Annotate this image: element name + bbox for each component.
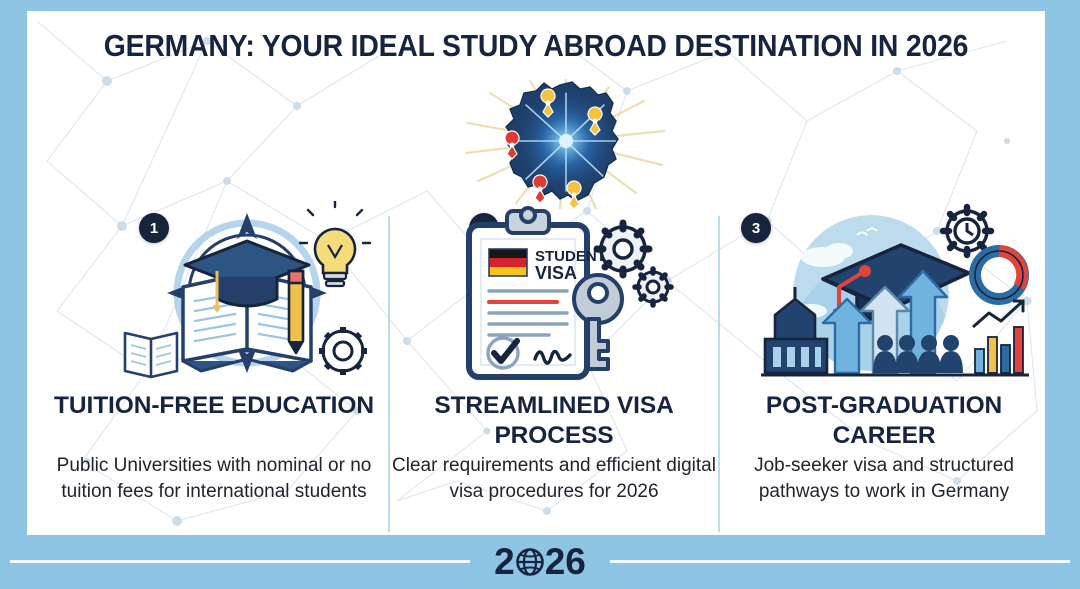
feature-body: Clear requirements and efficient digital… <box>389 453 719 505</box>
globe-icon <box>515 543 545 587</box>
feature-body: Job-seeker visa and structured pathways … <box>719 453 1045 505</box>
feature-heading: POST-GRADUATION CAREER <box>719 391 1045 450</box>
pencil <box>289 271 303 353</box>
year-prefix: 2 <box>494 541 515 582</box>
donut-chart-icon <box>975 251 1023 299</box>
poster-canvas: GERMANY: YOUR IDEAL STUDY ABROAD DESTINA… <box>27 11 1045 535</box>
book-graduation-compass-icon <box>121 201 373 386</box>
small-book-icon <box>125 333 177 377</box>
german-flag-icon <box>489 249 527 276</box>
clock-gear-icon <box>943 207 991 255</box>
page-title: GERMANY: YOUR IDEAL STUDY ABROAD DESTINA… <box>63 29 1010 64</box>
gear-icon <box>319 327 367 375</box>
gear-icon <box>597 223 649 275</box>
footer-year: 226 <box>0 540 1080 587</box>
student-visa-clipboard-icon: STUDENT VISA <box>431 201 676 386</box>
germany-map-illustration <box>464 79 669 209</box>
feature-body: Public Universities with nominal or no t… <box>49 453 379 505</box>
feature-column-visa: 2 STUDENT VISA <box>389 201 719 535</box>
clipboard-label-line2: VISA <box>535 263 577 283</box>
gear-icon <box>635 269 671 305</box>
infographic-poster: GERMANY: YOUR IDEAL STUDY ABROAD DESTINA… <box>0 0 1080 589</box>
year-suffix: 26 <box>545 541 586 582</box>
career-growth-icon <box>761 201 1029 386</box>
feature-heading: STREAMLINED VISA PROCESS <box>389 391 719 450</box>
feature-heading: TUITION-FREE EDUCATION <box>49 391 379 421</box>
feature-column-tuition: 1 <box>49 201 379 535</box>
feature-column-career: 3 <box>719 201 1045 535</box>
bar-chart-icon <box>973 301 1023 373</box>
